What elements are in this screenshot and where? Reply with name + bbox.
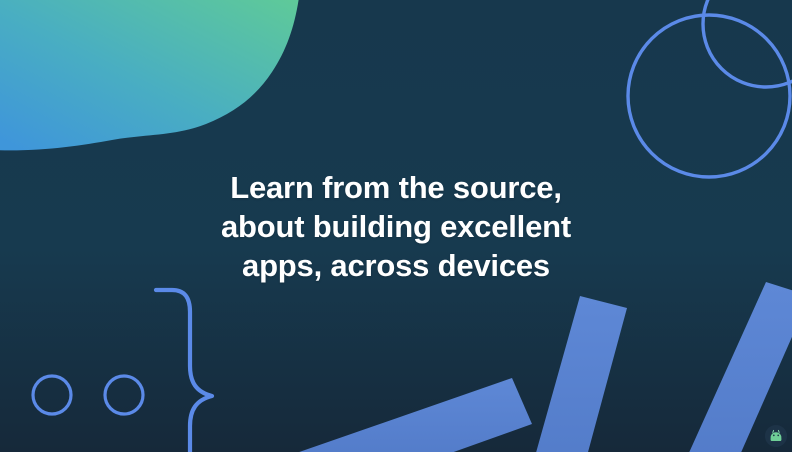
presentation-slide: Learn from the source, about building ex… <box>0 0 792 452</box>
android-logo-badge <box>765 425 787 447</box>
android-logo-icon <box>765 425 787 447</box>
page-title: Learn from the source, about building ex… <box>0 168 792 285</box>
